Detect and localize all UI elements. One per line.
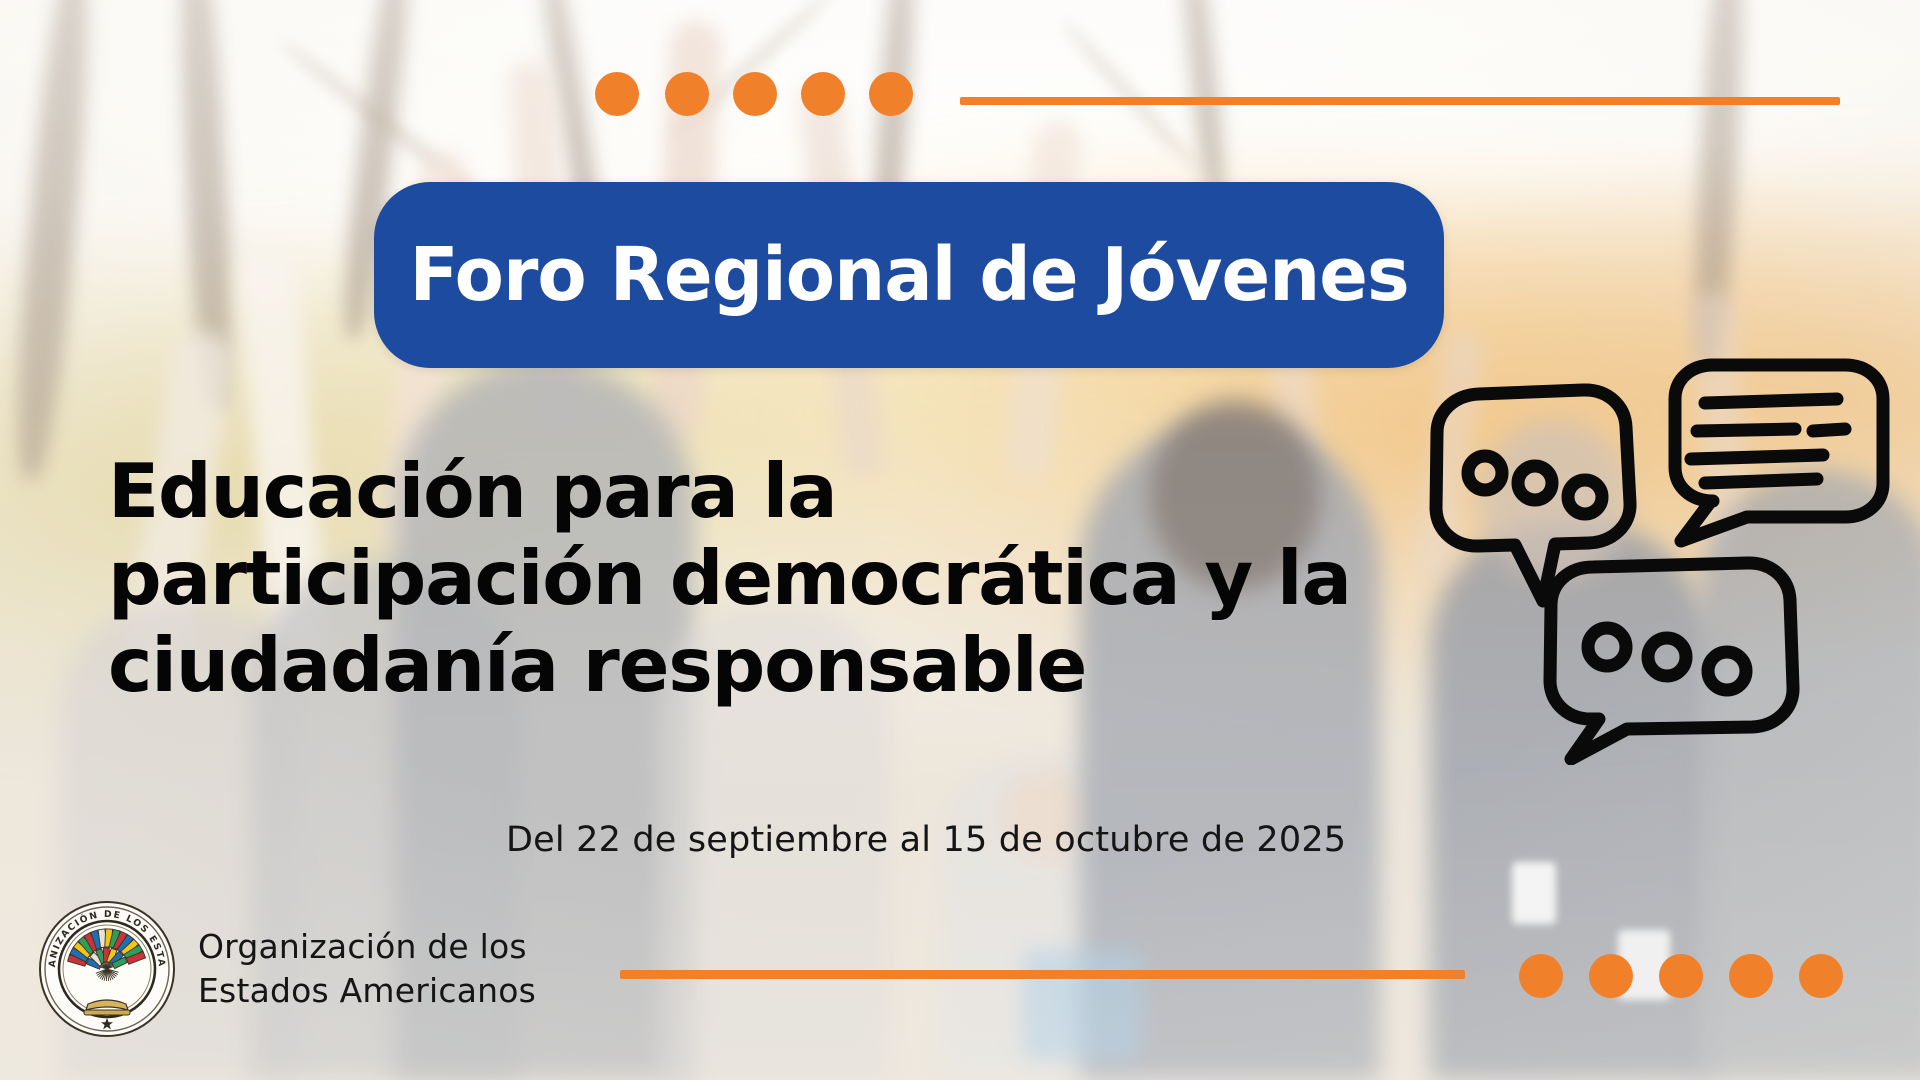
headline-line-3: ciudadanía responsable — [108, 622, 1351, 709]
organization-name-line-2: Estados Americanos — [198, 969, 536, 1013]
speech-bubble-lines-icon — [1675, 365, 1883, 541]
dot-icon — [1519, 954, 1563, 998]
dot-icon — [595, 72, 639, 116]
dot-icon — [869, 72, 913, 116]
dot-icon — [665, 72, 709, 116]
speech-bubble-ellipsis-icon — [1550, 563, 1793, 759]
dot-icon — [733, 72, 777, 116]
banner-canvas: Foro Regional de Jóvenes — [0, 0, 1920, 1080]
organization-footer: ORGANIZACIÓN DE LOS ESTADOS AMERICANOS — [38, 900, 536, 1038]
event-dates: Del 22 de septiembre al 15 de octubre de… — [506, 820, 1346, 860]
organization-name: Organización de los Estados Americanos — [198, 925, 536, 1012]
dot-icon — [801, 72, 845, 116]
event-title-badge: Foro Regional de Jóvenes — [374, 182, 1444, 368]
dot-icon — [1729, 954, 1773, 998]
organization-name-line-1: Organización de los — [198, 925, 536, 969]
oas-seal-icon: ORGANIZACIÓN DE LOS ESTADOS AMERICANOS — [38, 900, 176, 1038]
dot-icon — [1659, 954, 1703, 998]
speech-bubbles-illustration — [1375, 355, 1920, 765]
dot-icon — [1589, 954, 1633, 998]
headline-line-2: participación democrática y la — [108, 535, 1351, 622]
dot-icon — [1799, 954, 1843, 998]
event-title: Foro Regional de Jóvenes — [409, 238, 1408, 312]
top-horizontal-rule-icon — [960, 97, 1840, 105]
bottom-horizontal-rule-icon — [620, 970, 1465, 979]
headline: Educación para la participación democrát… — [108, 448, 1351, 709]
headline-line-1: Educación para la — [108, 448, 1351, 535]
